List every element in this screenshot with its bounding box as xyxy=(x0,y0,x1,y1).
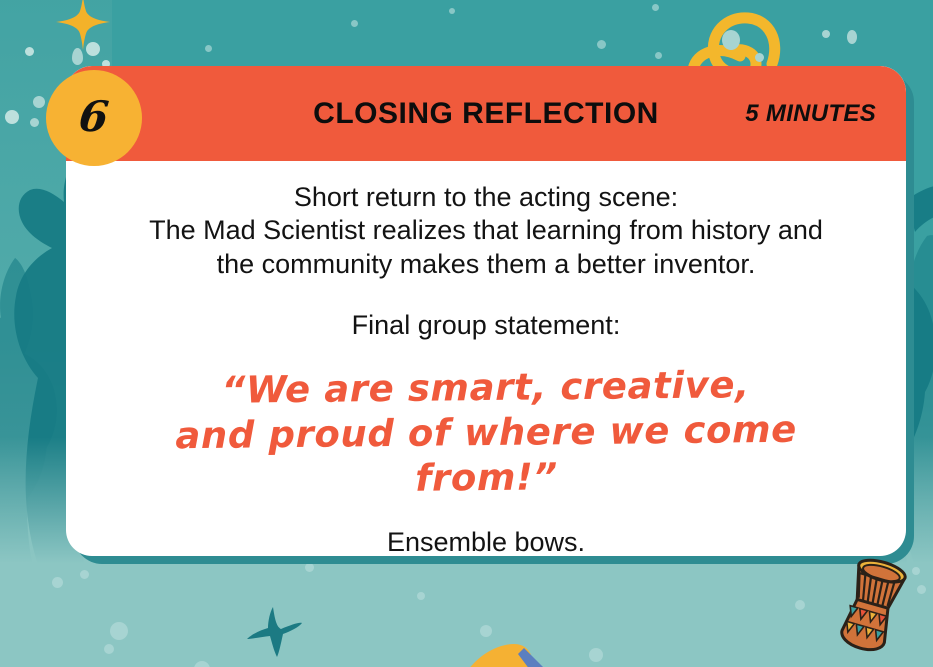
card-header: CLOSING REFLECTION 5 MINUTES xyxy=(66,66,906,161)
bubble-dot xyxy=(655,52,662,59)
bubble-dot xyxy=(351,20,358,27)
bubble-dot xyxy=(110,622,128,640)
final-statement-label: Final group statement: xyxy=(102,281,870,342)
step-number-badge: 6 xyxy=(46,70,142,166)
four-point-star-icon xyxy=(52,0,114,56)
bubble-dot xyxy=(30,118,39,127)
content-card: CLOSING REFLECTION 5 MINUTES Short retur… xyxy=(66,66,906,556)
group-statement-quote: “We are smart, creative, and proud of wh… xyxy=(101,339,871,504)
step-number: 6 xyxy=(77,92,111,141)
bubble-dot xyxy=(652,4,659,11)
bubble-dot xyxy=(205,45,212,52)
bubble-dot xyxy=(722,30,740,50)
bubble-dot xyxy=(449,8,455,14)
duration-badge: 5 MINUTES xyxy=(745,100,876,128)
slide-canvas: CLOSING REFLECTION 5 MINUTES Short retur… xyxy=(0,0,933,667)
intro-line-2: The Mad Scientist realizes that learning… xyxy=(149,215,823,245)
djembe-drum-icon xyxy=(820,552,926,660)
bubble-dot xyxy=(25,47,34,56)
card-body: Short return to the acting scene: The Ma… xyxy=(66,161,906,556)
quote-line-2: and proud of where we come from!” xyxy=(175,408,797,500)
bubble-dot xyxy=(755,53,764,62)
intro-line-3: the community makes them a better invent… xyxy=(217,249,756,279)
bubble-dot xyxy=(5,110,19,124)
bubble-dot xyxy=(480,625,492,637)
bubble-dot xyxy=(589,648,603,662)
partial-shape-icon xyxy=(466,640,562,667)
bubble-dot xyxy=(417,592,425,600)
bubble-dot xyxy=(52,577,63,588)
bubble-dot xyxy=(847,30,857,44)
bubble-dot xyxy=(72,48,83,65)
quote-line-1: “We are smart, creative, xyxy=(221,363,750,412)
bubble-dot xyxy=(86,42,100,56)
bubble-dot xyxy=(104,644,114,654)
intro-paragraph: Short return to the acting scene: The Ma… xyxy=(102,161,870,281)
bubble-dot xyxy=(822,30,830,38)
bubble-dot xyxy=(80,570,89,579)
bubble-dot xyxy=(597,40,606,49)
bubble-dot xyxy=(33,96,45,108)
bubble-dot xyxy=(305,563,314,572)
bubble-dot xyxy=(795,600,805,610)
four-point-star-icon xyxy=(243,603,305,659)
outro-text: Ensemble bows. xyxy=(102,500,870,556)
intro-line-1: Short return to the acting scene: xyxy=(294,182,678,212)
